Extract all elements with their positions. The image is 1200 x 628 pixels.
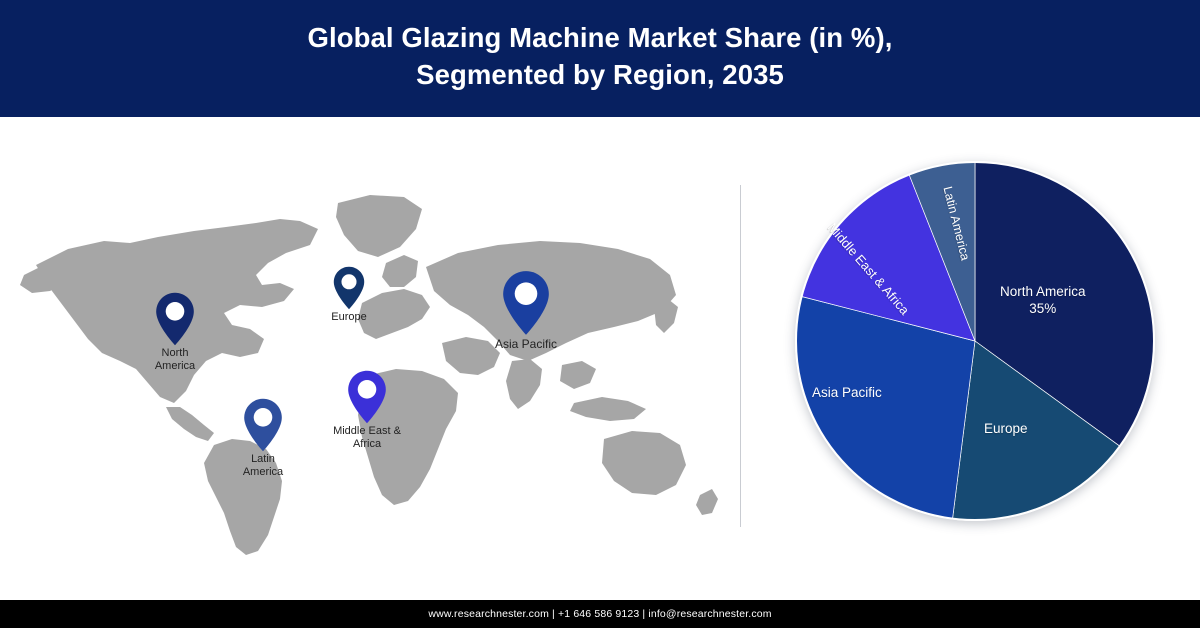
- pie-chart-panel: North America 35% Europe Asia Pacific Mi…: [782, 148, 1168, 534]
- pie-slice-label-north-america: North America 35%: [1000, 284, 1086, 316]
- map-pin-label-middle-east-africa: Middle East & Africa: [333, 425, 401, 451]
- page-title: Global Glazing Machine Market Share (in …: [308, 20, 893, 98]
- map-pin-label-line1: Asia Pacific: [495, 337, 557, 351]
- map-pin-label-latin-america: Latin America: [243, 453, 283, 479]
- location-pin-icon: [154, 291, 196, 347]
- map-pin-label-line1: Europe: [331, 311, 366, 324]
- map-pin-latin-america[interactable]: Latin America: [242, 397, 284, 453]
- map-pin-label-europe: Europe: [331, 311, 366, 324]
- map-pin-label-line2: America: [243, 466, 283, 479]
- pie-slice-value-north-america: 35%: [1000, 301, 1086, 316]
- infographic-page: Global Glazing Machine Market Share (in …: [0, 0, 1200, 628]
- map-pin-label-north-america: North America: [155, 347, 195, 373]
- map-pin-label-line1: North: [155, 347, 195, 360]
- header-bar: Global Glazing Machine Market Share (in …: [0, 0, 1200, 117]
- pie-slice-label-asia-pacific: Asia Pacific: [812, 385, 882, 400]
- content-area: North America Latin America: [0, 117, 1200, 600]
- world-map-graphic: [18, 157, 730, 557]
- location-pin-icon: [332, 265, 366, 311]
- map-pin-label-line1: Middle East &: [333, 425, 401, 438]
- map-pin-asia-pacific[interactable]: Asia Pacific: [500, 269, 552, 337]
- pie-slice-label-europe: Europe: [984, 421, 1028, 436]
- map-pin-label-line2: America: [155, 360, 195, 373]
- page-title-line2: Segmented by Region, 2035: [308, 57, 893, 94]
- section-divider: [740, 185, 741, 527]
- pie-chart-graphic[interactable]: [795, 161, 1155, 521]
- map-pin-label-line2: Africa: [333, 438, 401, 451]
- map-pin-middle-east-africa[interactable]: Middle East & Africa: [346, 369, 388, 425]
- page-title-line1: Global Glazing Machine Market Share (in …: [308, 22, 893, 53]
- pie-slice-name-north-america: North America: [1000, 284, 1086, 299]
- world-map-panel: North America Latin America: [18, 157, 730, 557]
- footer-bar: www.researchnester.com | +1 646 586 9123…: [0, 600, 1200, 628]
- location-pin-icon: [346, 369, 388, 425]
- footer-contact-text: www.researchnester.com | +1 646 586 9123…: [428, 608, 771, 620]
- map-pin-europe[interactable]: Europe: [332, 265, 366, 311]
- location-pin-icon: [242, 397, 284, 453]
- map-pin-label-asia-pacific: Asia Pacific: [495, 337, 557, 351]
- map-pin-label-line1: Latin: [243, 453, 283, 466]
- location-pin-icon: [500, 269, 552, 337]
- map-pin-north-america[interactable]: North America: [154, 291, 196, 347]
